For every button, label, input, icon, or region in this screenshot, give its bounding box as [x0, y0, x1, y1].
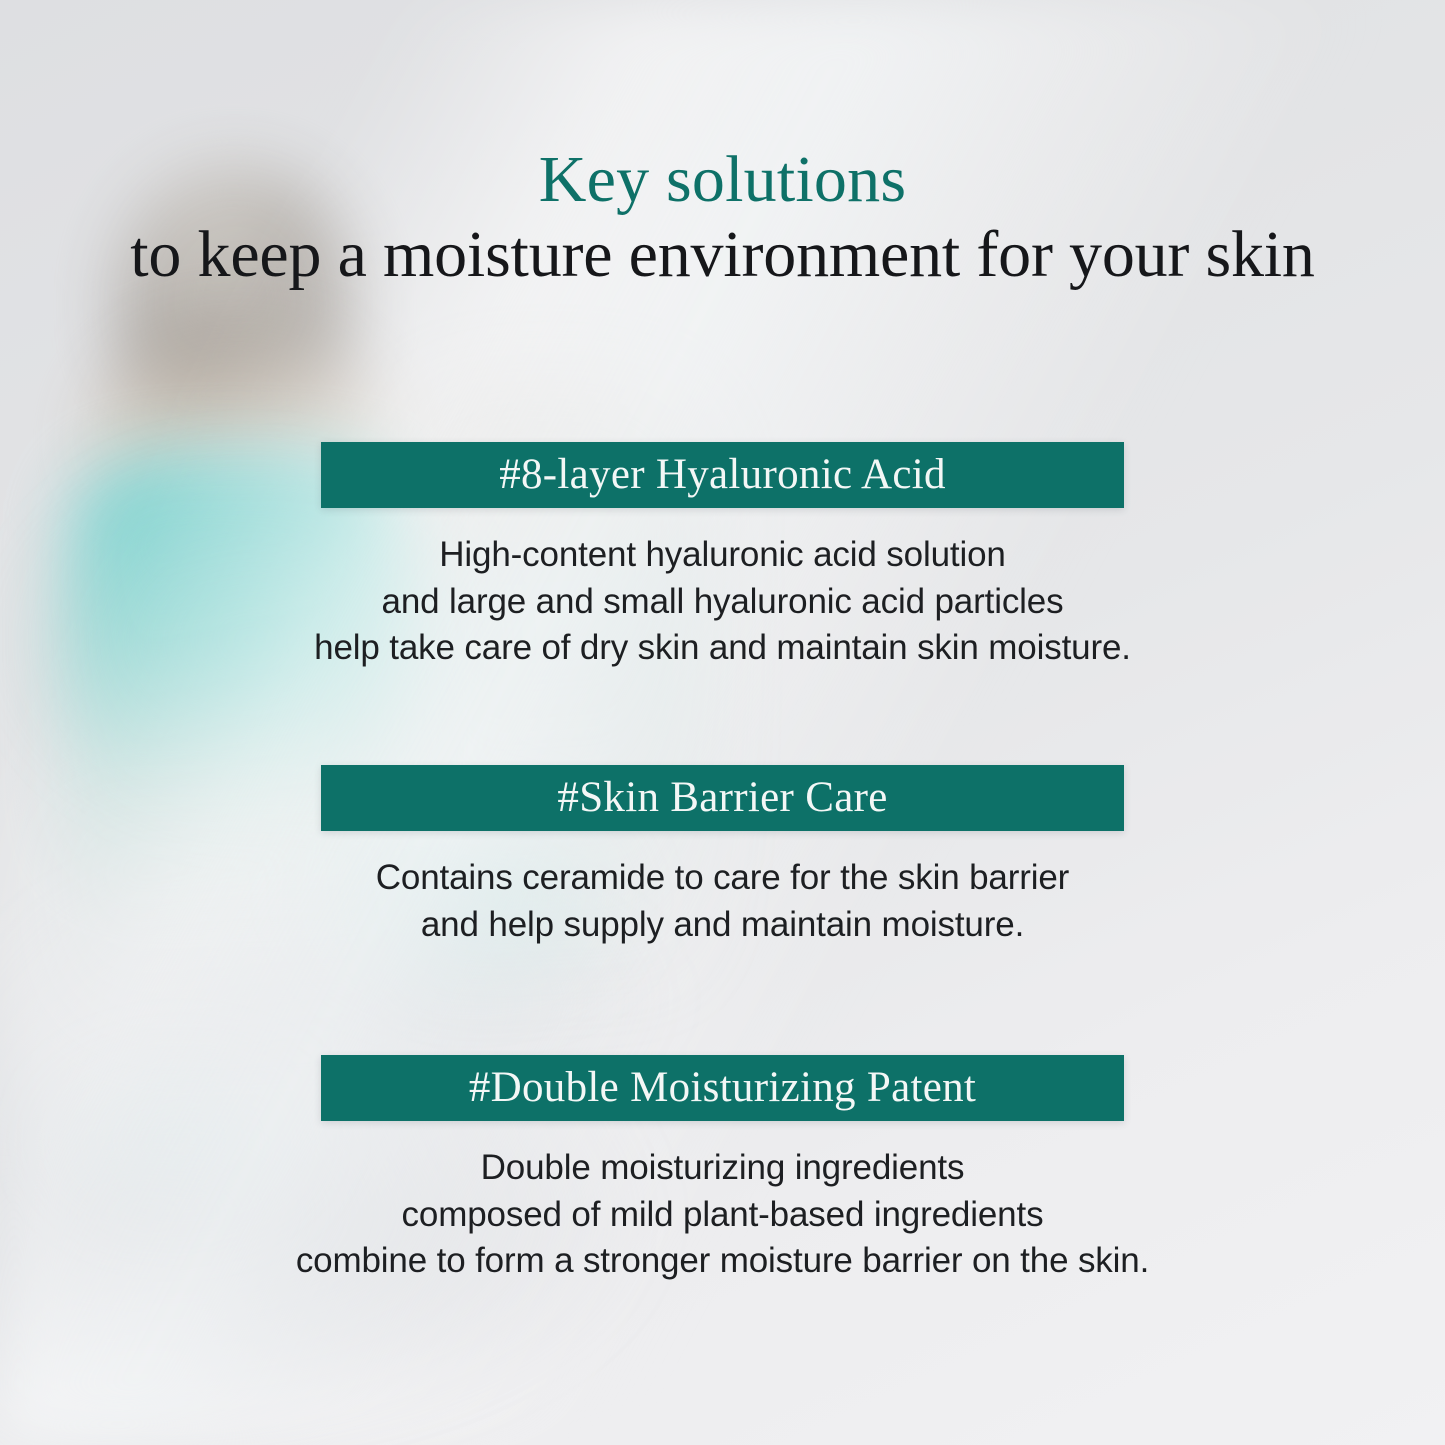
section-body-hyaluronic-acid: High-content hyaluronic acid solution an…	[0, 532, 1445, 672]
body-line: and help supply and maintain moisture.	[0, 902, 1445, 949]
banner-label-hyaluronic-acid: #8-layer Hyaluronic Acid	[499, 453, 946, 496]
banner-label-double-moisturizing-patent: #Double Moisturizing Patent	[469, 1066, 976, 1109]
headline-block: Key solutions to keep a moisture environ…	[0, 146, 1445, 293]
headline-line-2: to keep a moisture environment	[130, 218, 960, 291]
section-body-double-moisturizing-patent: Double moisturizing ingredients composed…	[0, 1145, 1445, 1285]
section-banner-double-moisturizing-patent: #Double Moisturizing Patent	[321, 1055, 1124, 1121]
body-line: composed of mild plant-based ingredients	[0, 1192, 1445, 1239]
body-line: Contains ceramide to care for the skin b…	[0, 855, 1445, 902]
headline-main: to keep a moisture environment for your …	[0, 217, 1445, 294]
headline-line-3: for your skin	[976, 218, 1314, 291]
body-line: and large and small hyaluronic acid part…	[0, 579, 1445, 626]
banner-label-skin-barrier-care: #Skin Barrier Care	[557, 776, 887, 819]
section-banner-hyaluronic-acid: #8-layer Hyaluronic Acid	[321, 442, 1124, 508]
headline-accent-line: Key solutions	[0, 146, 1445, 215]
content-layer: Key solutions to keep a moisture environ…	[0, 0, 1445, 1445]
body-line: help take care of dry skin and maintain …	[0, 625, 1445, 672]
section-body-skin-barrier-care: Contains ceramide to care for the skin b…	[0, 855, 1445, 948]
body-line: Double moisturizing ingredients	[0, 1145, 1445, 1192]
body-line: combine to form a stronger moisture barr…	[0, 1238, 1445, 1285]
product-infographic: Key solutions to keep a moisture environ…	[0, 0, 1445, 1445]
section-banner-skin-barrier-care: #Skin Barrier Care	[321, 765, 1124, 831]
body-line: High-content hyaluronic acid solution	[0, 532, 1445, 579]
